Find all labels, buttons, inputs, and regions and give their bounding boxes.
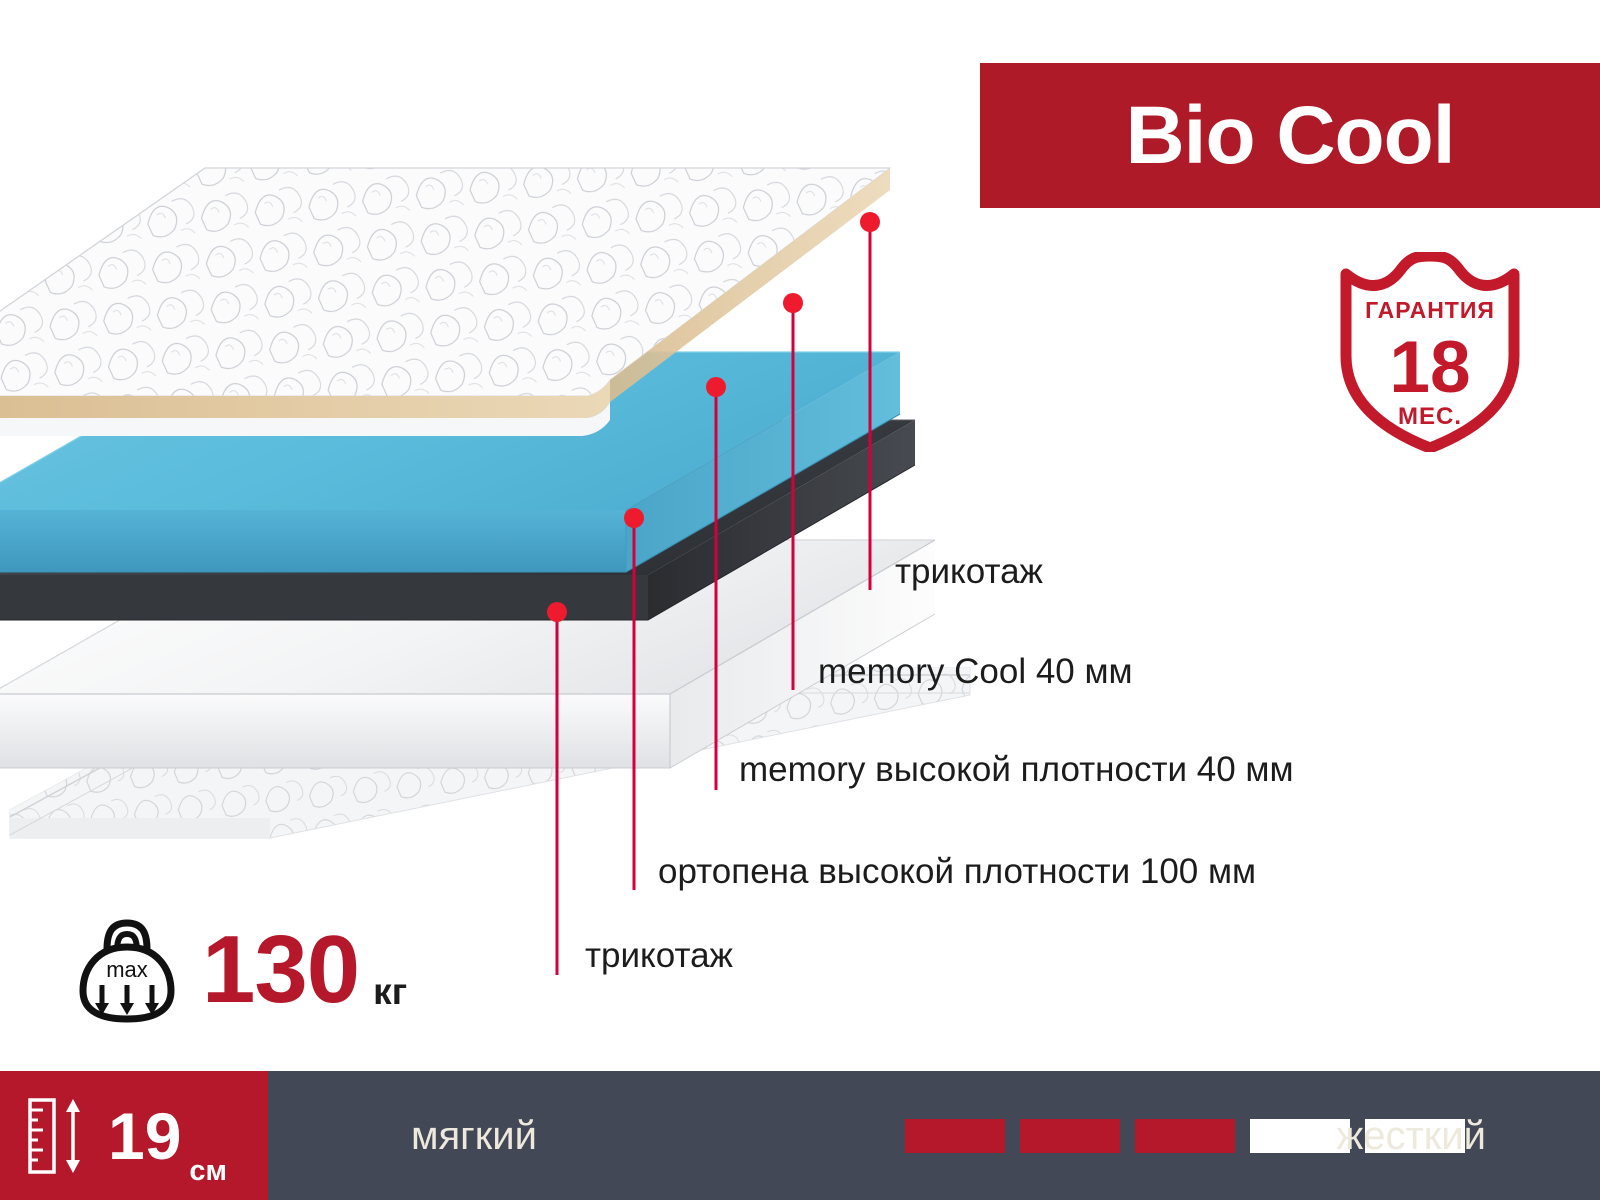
firmness-segment-2 xyxy=(1020,1119,1120,1153)
height-value: 19 xyxy=(108,1103,181,1169)
layer-label-knit-top: трикотаж xyxy=(895,554,1043,589)
warranty-number: 18 xyxy=(1389,327,1470,408)
firmness-segment-4 xyxy=(1250,1119,1350,1153)
max-weight-block: max 130 кг xyxy=(75,915,407,1025)
warranty-badge: ГАРАНТИЯ 18 МЕС. xyxy=(1330,252,1530,452)
firmness-panel: мягкий жесткий xyxy=(268,1071,1600,1200)
max-weight-unit: кг xyxy=(373,971,407,1025)
mattress-exploded-illustration xyxy=(0,120,980,920)
layer-label-memory-hd: memory высокой плотности 40 мм xyxy=(739,752,1294,787)
bottom-info-bar: 19 см мягкий жесткий xyxy=(0,1071,1600,1200)
kettlebell-icon: max xyxy=(75,915,180,1025)
height-panel: 19 см xyxy=(0,1071,268,1200)
layer-label-ortofoam: ортопена высокой плотности 100 мм xyxy=(658,854,1256,889)
layer-label-knit-bottom: трикотаж xyxy=(585,938,733,973)
layer-label-memory-cool: memory Cool 40 мм xyxy=(818,654,1133,689)
max-weight-value: 130 xyxy=(202,922,359,1018)
product-title-banner: Bio Cool xyxy=(980,63,1600,208)
warranty-unit: МЕС. xyxy=(1398,403,1462,430)
firmness-segment-1 xyxy=(905,1119,1005,1153)
firmness-soft-label: мягкий xyxy=(411,1116,537,1156)
height-unit: см xyxy=(189,1155,227,1200)
firmness-segment-3 xyxy=(1135,1119,1235,1153)
product-title: Bio Cool xyxy=(1125,95,1454,177)
kettlebell-max-label: max xyxy=(106,957,148,982)
firmness-hard-label: жесткий xyxy=(1336,1116,1486,1156)
ruler-icon xyxy=(26,1096,92,1176)
warranty-top-label: ГАРАНТИЯ xyxy=(1365,297,1495,323)
